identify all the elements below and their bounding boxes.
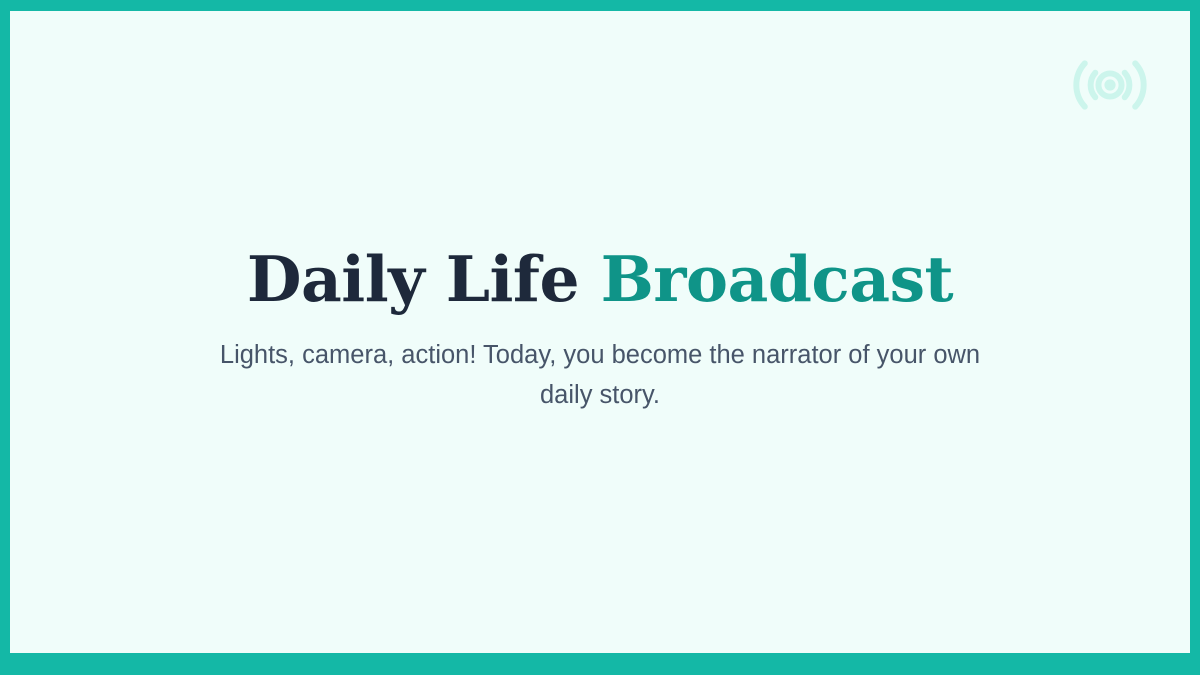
broadcast-icon [1068, 43, 1152, 127]
page-title-accent: Broadcast [601, 242, 954, 316]
page-title: Daily Life Broadcast [100, 247, 1100, 313]
page-title-primary: Daily Life [247, 242, 601, 316]
slide-content-block: Daily Life Broadcast Lights, camera, act… [10, 247, 1190, 416]
slide-canvas: Daily Life Broadcast Lights, camera, act… [10, 11, 1190, 653]
slide-frame: Daily Life Broadcast Lights, camera, act… [0, 0, 1200, 675]
page-subtitle: Lights, camera, action! Today, you becom… [215, 335, 985, 417]
